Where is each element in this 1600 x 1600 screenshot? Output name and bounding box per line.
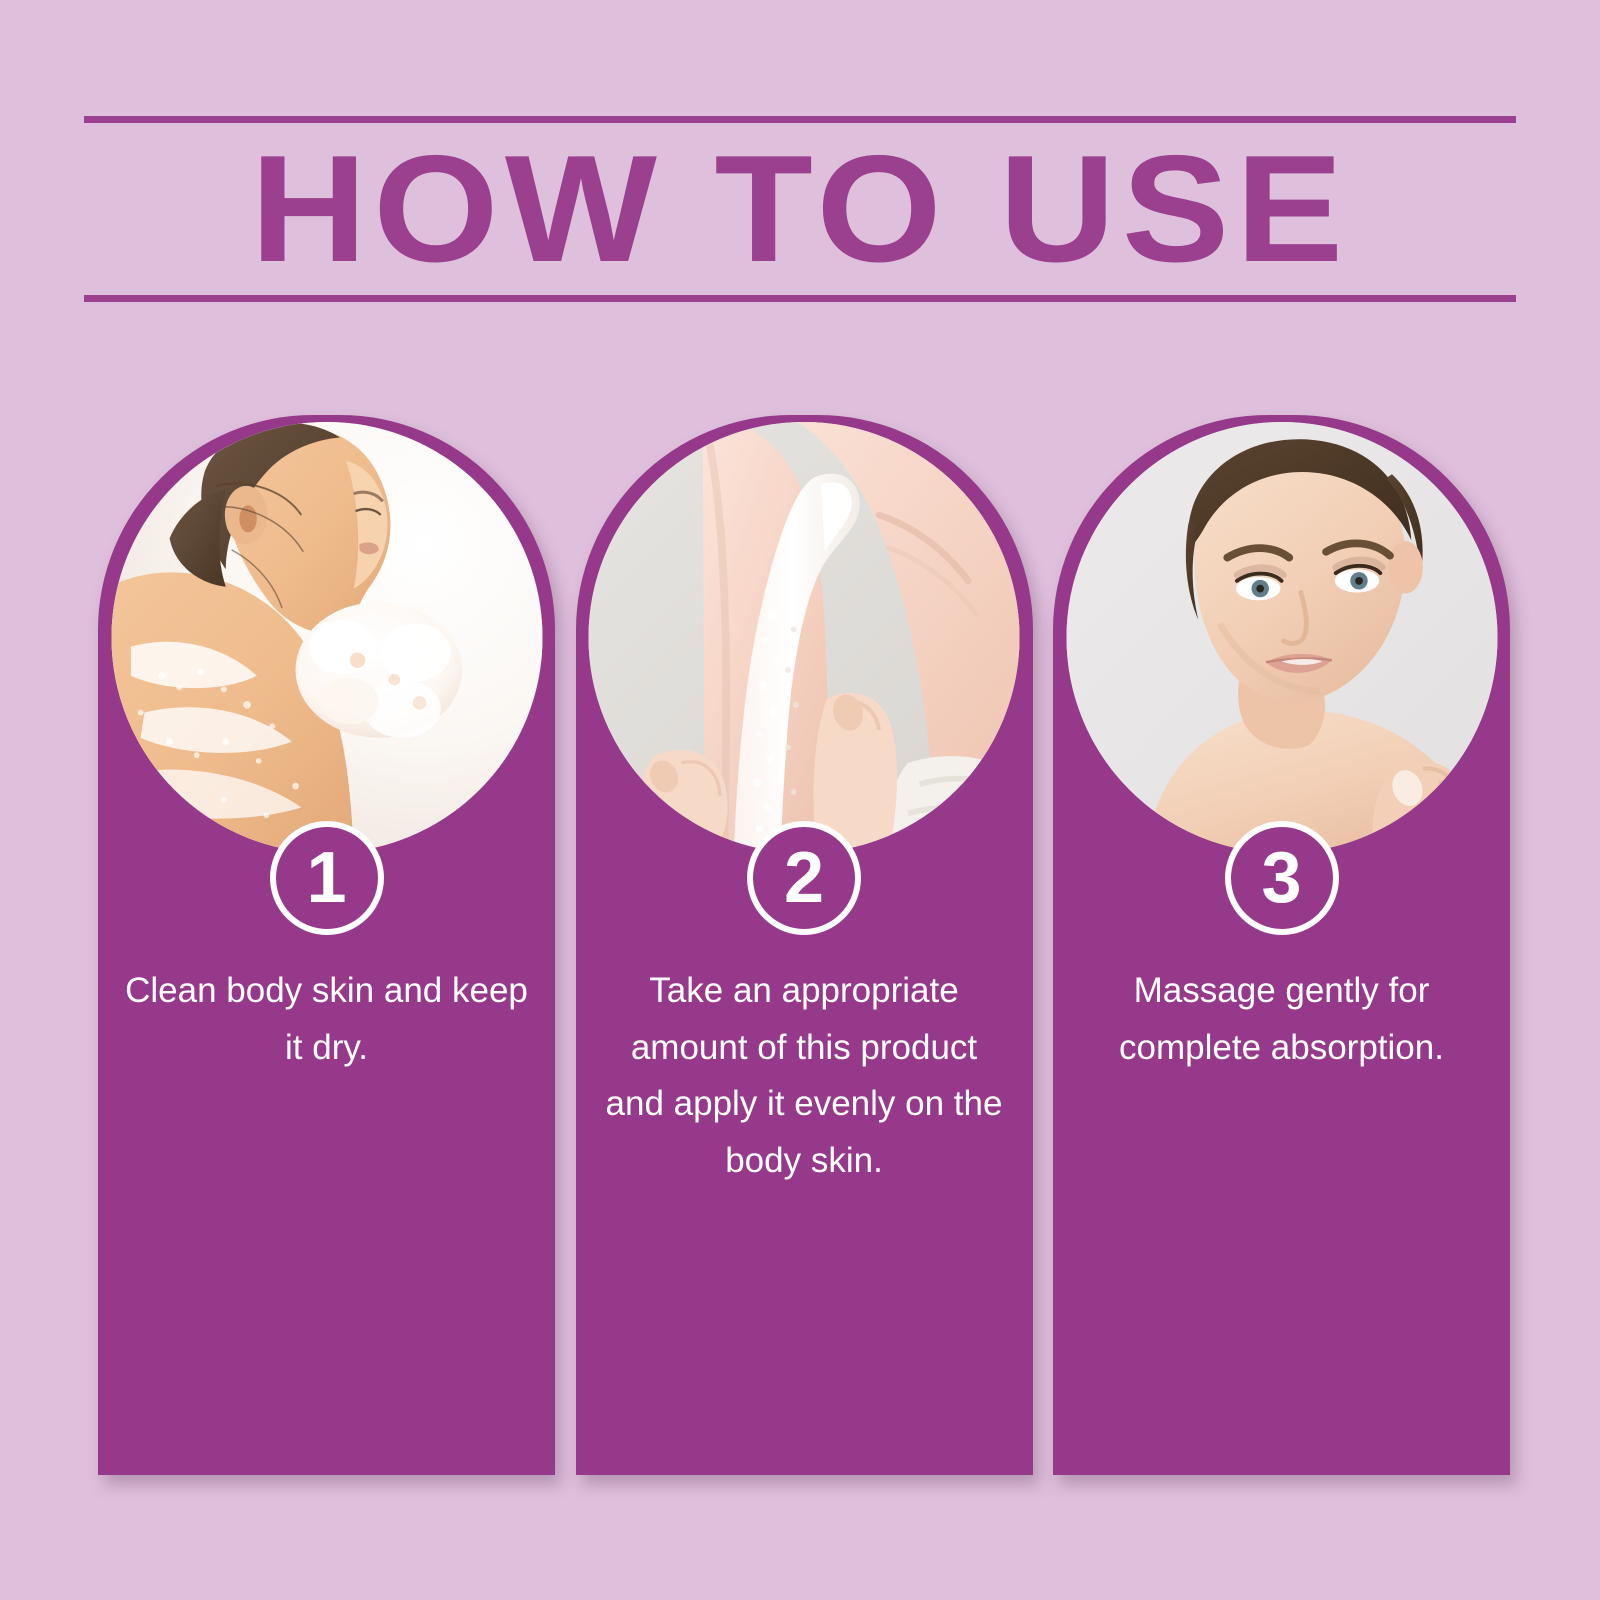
step-3-photo-art [1066,422,1497,853]
step-card-2[interactable]: 2 Take an appropriate amount of this pro… [576,415,1033,1475]
step-description-3: Massage gently for complete absorption. [1079,963,1484,1076]
step-number-badge-1: 1 [270,821,384,935]
steps-container: 1 Clean body skin and keep it dry. [98,415,1510,1477]
step-card-3[interactable]: 3 Massage gently for complete absorption… [1053,415,1510,1475]
page-header: HOW TO USE [84,116,1516,302]
step-number-2: 2 [784,842,824,914]
step-3-photo [1059,415,1504,860]
step-2-photo [582,415,1027,860]
step-2-photo-art [589,422,1020,853]
step-description-1: Clean body skin and keep it dry. [124,963,529,1076]
header-rule-bottom [84,295,1516,302]
step-card-1[interactable]: 1 Clean body skin and keep it dry. [98,415,555,1475]
page-title: HOW TO USE [41,116,1559,302]
step-number-badge-2: 2 [747,821,861,935]
step-1-photo [104,415,549,860]
step-number-3: 3 [1261,842,1301,914]
step-description-2: Take an appropriate amount of this produ… [602,963,1007,1190]
step-1-photo-art [111,422,542,853]
step-number-1: 1 [306,842,346,914]
step-number-badge-3: 3 [1225,821,1339,935]
